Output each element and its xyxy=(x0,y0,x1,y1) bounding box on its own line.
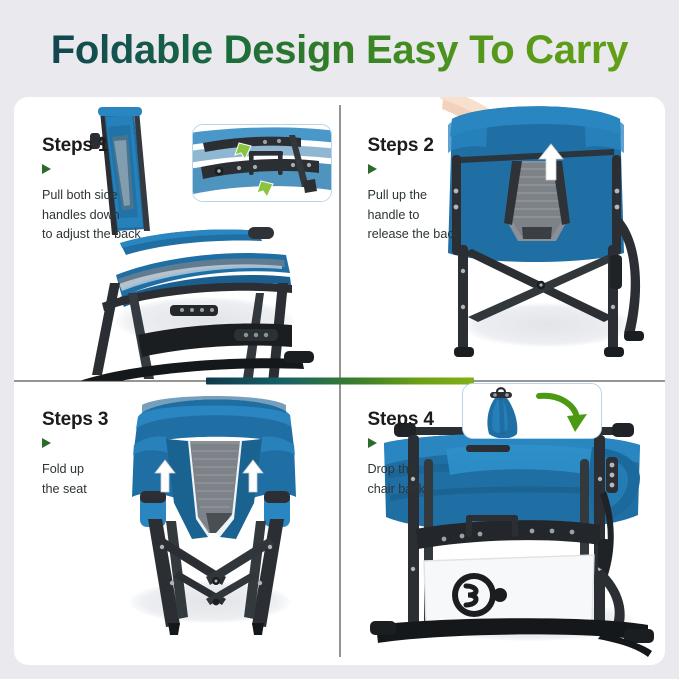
step-3-title: Steps 3 xyxy=(42,409,182,431)
step-4-inset-art xyxy=(463,384,602,439)
panel-step-2[interactable]: Steps 2 Pull up the handle to release th… xyxy=(340,97,666,381)
panel-step-3[interactable]: Steps 3 Fold up the seat xyxy=(14,381,340,665)
step-1-inset-art xyxy=(193,125,332,202)
panel-step-4[interactable]: Steps 4 Drop the chair back xyxy=(340,381,666,665)
arrow-up-icon xyxy=(154,459,176,493)
infographic-root: Foldable Design Easy To Carry xyxy=(0,0,679,679)
step-1-text: Steps 1 Pull both side handles down to a… xyxy=(42,135,182,245)
triangle-right-icon xyxy=(42,438,51,448)
horizontal-divider-accent xyxy=(206,378,474,385)
step-1-inset xyxy=(192,124,332,202)
title-wrap: Foldable Design Easy To Carry xyxy=(0,20,679,80)
page-title: Foldable Design Easy To Carry xyxy=(51,28,628,73)
step-2-title: Steps 2 xyxy=(368,135,518,157)
arrow-up-icon xyxy=(242,459,264,493)
panel-step-1[interactable]: Steps 1 Pull both side handles down to a… xyxy=(14,97,340,381)
steps-card: Steps 1 Pull both side handles down to a… xyxy=(14,97,665,665)
triangle-right-icon xyxy=(368,438,377,448)
step-4-body: Drop the chair back xyxy=(368,460,508,499)
triangle-right-icon xyxy=(368,164,377,174)
step-4-inset xyxy=(462,383,602,439)
step-1-body: Pull both side handles down to adjust th… xyxy=(42,186,182,245)
step-1-title: Steps 1 xyxy=(42,135,182,157)
arrow-up-icon xyxy=(538,143,564,181)
step-2-text: Steps 2 Pull up the handle to release th… xyxy=(368,135,518,245)
step-2-body: Pull up the handle to release the back xyxy=(368,186,518,245)
triangle-right-icon xyxy=(42,164,51,174)
